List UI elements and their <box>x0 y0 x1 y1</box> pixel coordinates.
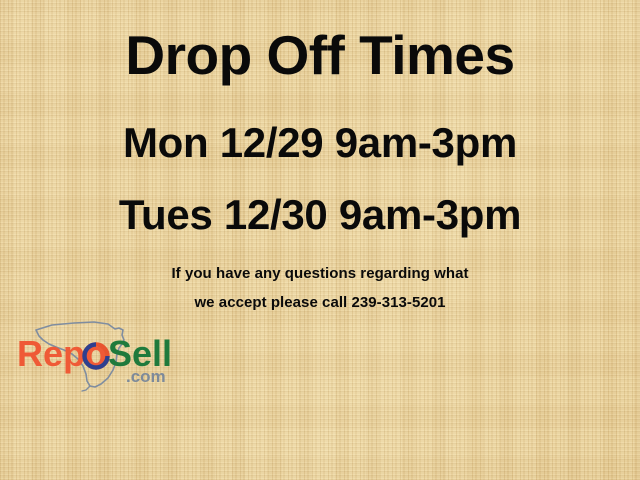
note-line-2: we accept please call 239-313-5201 <box>0 294 640 311</box>
slide-canvas: Drop Off Times Mon 12/29 9am-3pm Tues 12… <box>0 0 640 480</box>
note-line-1: If you have any questions regarding what <box>0 265 640 282</box>
page-title: Drop Off Times <box>0 26 640 84</box>
logo-text-tld: .com <box>126 367 166 386</box>
schedule-line-monday: Mon 12/29 9am-3pm <box>0 120 640 165</box>
schedule-line-tuesday: Tues 12/30 9am-3pm <box>0 192 640 237</box>
reposell-logo[interactable]: Repo Sell .com <box>16 316 196 394</box>
